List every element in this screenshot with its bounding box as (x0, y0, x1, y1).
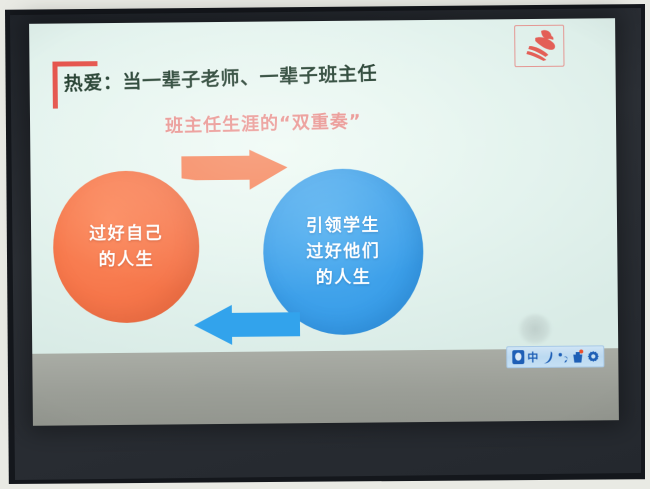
circle-orange-line-2: 的人生 (98, 248, 154, 273)
red-crane-emblem-icon (515, 26, 561, 64)
gear-icon (587, 350, 599, 362)
photograph-of-projected-slide: 热爱：当一辈子老师、一辈子班主任 班主任生涯的“双重奏” 过好自己 的人生 引领… (0, 0, 650, 489)
crane-emblem-logo (514, 25, 564, 67)
ime-toolbox-button[interactable] (571, 349, 584, 365)
ime-settings-button[interactable] (586, 348, 599, 364)
circle-blue-line-1: 引领学生 (306, 213, 380, 238)
ime-halfwidth-toggle[interactable] (541, 349, 554, 365)
comma-period-icon (557, 350, 568, 363)
circle-blue-line-2: 过好他们 (306, 239, 380, 264)
lens-smudge-artifact (518, 314, 552, 344)
crescent-moon-icon (542, 350, 553, 363)
toolbox-icon (571, 350, 584, 364)
arrow-left-icon (192, 302, 302, 351)
chinese-character-icon: 中 (527, 351, 538, 362)
chinese-ime-toolbar[interactable]: 中 (506, 345, 604, 368)
arrow-right-icon (179, 149, 289, 198)
sogou-logo-icon (512, 350, 524, 364)
slide-subtitle: 班主任生涯的“双重奏” (165, 107, 362, 138)
circle-blue-line-3: 的人生 (316, 266, 372, 291)
diagram-circle-orange: 过好自己 的人生 (53, 170, 200, 323)
ime-punctuation-mode[interactable] (556, 349, 569, 365)
ime-language-toggle[interactable]: 中 (526, 349, 539, 365)
circle-orange-line-1: 过好自己 (89, 221, 163, 246)
ime-logo-icon[interactable] (511, 349, 524, 365)
projection-screen: 热爱：当一辈子老师、一辈子班主任 班主任生涯的“双重奏” 过好自己 的人生 引领… (29, 18, 619, 426)
